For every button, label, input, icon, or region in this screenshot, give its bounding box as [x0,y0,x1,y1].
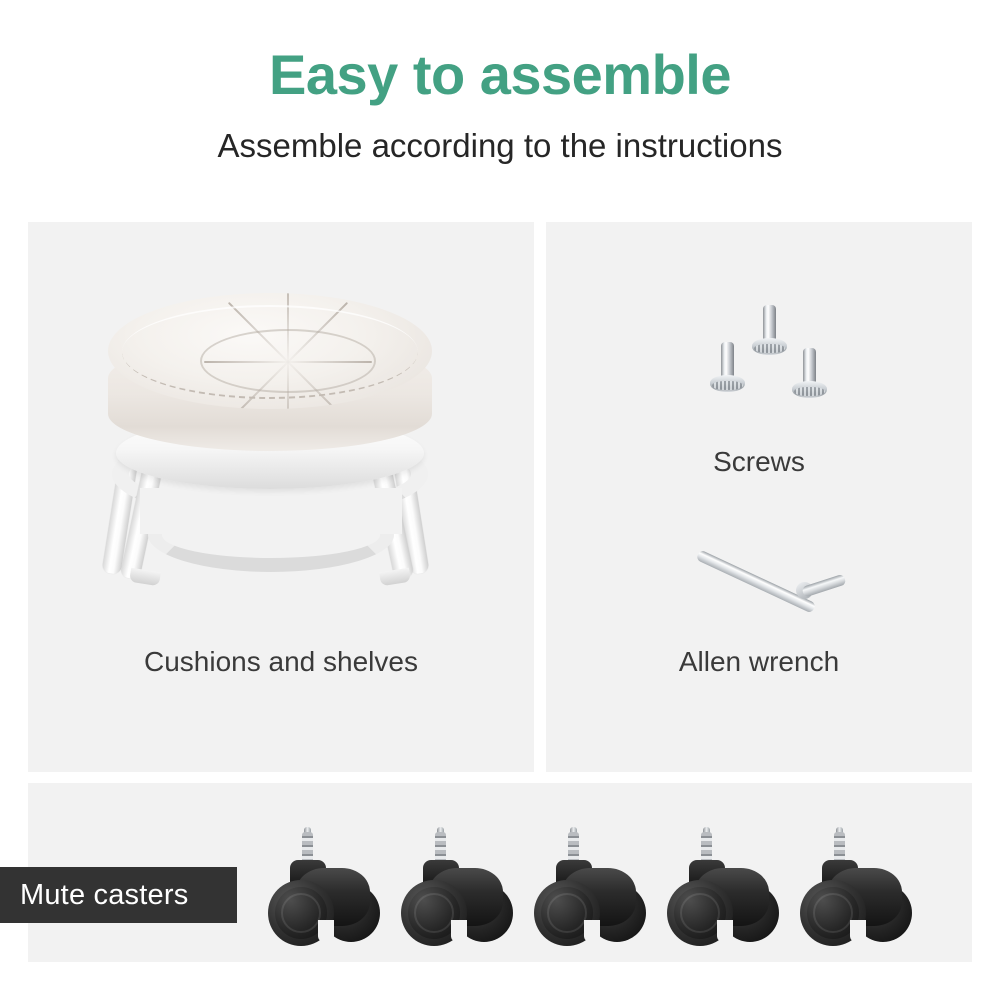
caster-wheel-gap [451,920,467,942]
page-title: Easy to assemble [0,44,1000,106]
caption-allen-wrench: Allen wrench [546,646,972,678]
caster-wheel-icon [528,832,648,950]
header: Easy to assemble Assemble according to t… [0,0,1000,200]
caption-screws: Screws [546,446,972,478]
cushion-edge-stitching [122,305,418,399]
stool-foot-left [129,568,161,587]
caster-wheel-gap [850,920,866,942]
caster-wheel-icon [395,832,515,950]
panel-hardware-parts: Screws Allen wrench [546,222,972,772]
caster-wheel-icon [262,832,382,950]
wrench-short-arm [801,574,846,598]
screw-knurl [754,344,785,353]
screw-knurl [794,387,825,396]
caster-wheel-icon [661,832,781,950]
stool-stretcher-mask [140,488,402,534]
page-subtitle: Assemble according to the instructions [0,126,1000,166]
caster-wheel-gap [318,920,334,942]
screw-knurl [712,381,743,390]
round-stool-icon [90,283,450,603]
allen-wrench-icon [696,525,846,603]
caster-wheel-gap [584,920,600,942]
caption-cushions-and-shelves: Cushions and shelves [28,646,534,678]
caster-wheel-icon [794,832,914,950]
caster-wheel-gap [717,920,733,942]
status-badge-mute-casters: Mute casters [0,867,237,923]
stool-foot-right [379,568,411,587]
